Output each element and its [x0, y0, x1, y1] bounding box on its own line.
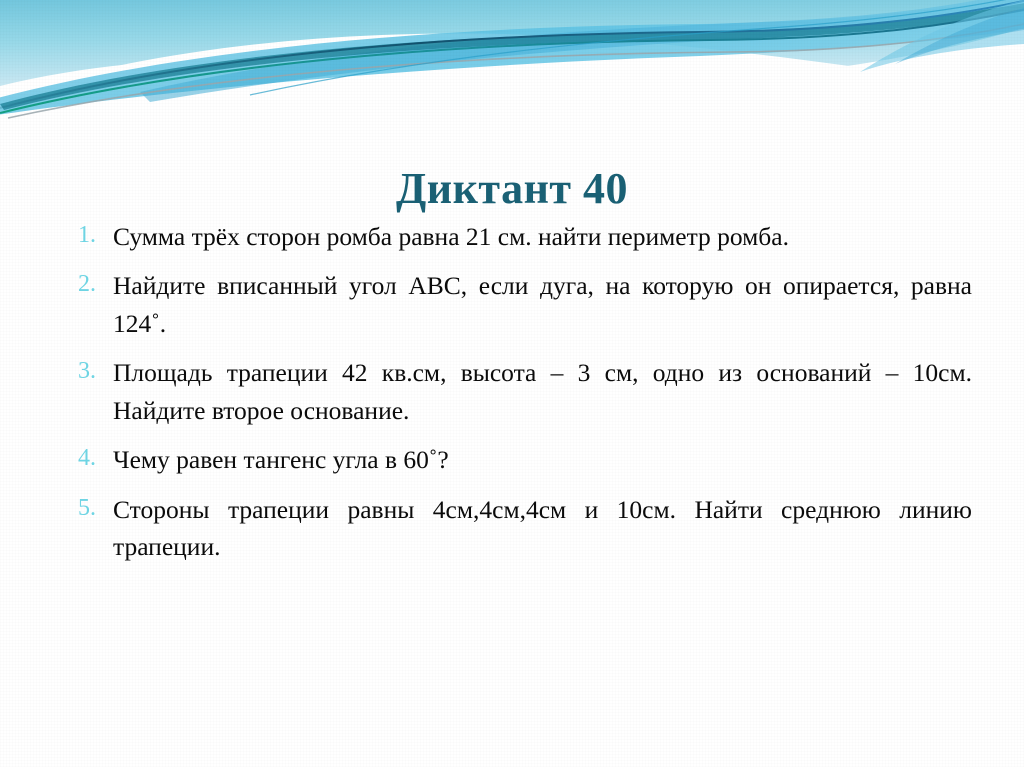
list-item: 3. Площадь трапеции 42 кв.см, высота – 3…: [52, 354, 972, 429]
list-item-text: Найдите вписанный угол ABC, если дуга, н…: [113, 267, 972, 342]
wave-banner-decoration: [0, 0, 1024, 120]
list-item-marker: 3.: [52, 354, 96, 389]
list-item-marker: 5.: [52, 491, 96, 526]
wave-sky-shape: [0, 0, 1024, 86]
list-item: 1. Сумма трёх сторон ромба равна 21 см. …: [52, 218, 972, 255]
list-item-text: Сумма трёх сторон ромба равна 21 см. най…: [113, 218, 972, 255]
presentation-slide: Диктант 40 1. Сумма трёх сторон ромба ра…: [0, 0, 1024, 767]
list-item: 2. Найдите вписанный угол ABC, если дуга…: [52, 267, 972, 342]
wave-line-navy: [0, 0, 1024, 108]
wave-white-sweep: [0, 33, 1024, 120]
list-item-marker: 4.: [52, 441, 96, 476]
wave-streak-right-2: [895, 8, 1024, 64]
page-title: Диктант 40: [0, 166, 1024, 212]
wave-band-secondary: [140, 0, 1024, 102]
list-item-marker: 1.: [52, 218, 96, 253]
wave-streak-right-1: [860, 0, 1024, 72]
list-item-marker: 2.: [52, 267, 96, 302]
problem-list: 1. Сумма трёх сторон ромба равна 21 см. …: [52, 218, 972, 566]
wave-line-teal: [0, 4, 1024, 113]
list-item-text: Стороны трапеции равны 4см,4см,4см и 10с…: [113, 491, 972, 566]
list-item: 5. Стороны трапеции равны 4см,4см,4см и …: [52, 491, 972, 566]
list-item-text: Чему равен тангенс угла в 60˚?: [113, 441, 972, 478]
wave-ribbon-deep: [0, 0, 1024, 110]
wave-line-sky: [250, 0, 1024, 95]
wave-line-grey: [8, 18, 1024, 118]
list-item-text: Площадь трапеции 42 кв.см, высота – 3 см…: [113, 354, 972, 429]
list-item: 4. Чему равен тангенс угла в 60˚?: [52, 441, 972, 478]
wave-band-primary: [0, 0, 1024, 116]
